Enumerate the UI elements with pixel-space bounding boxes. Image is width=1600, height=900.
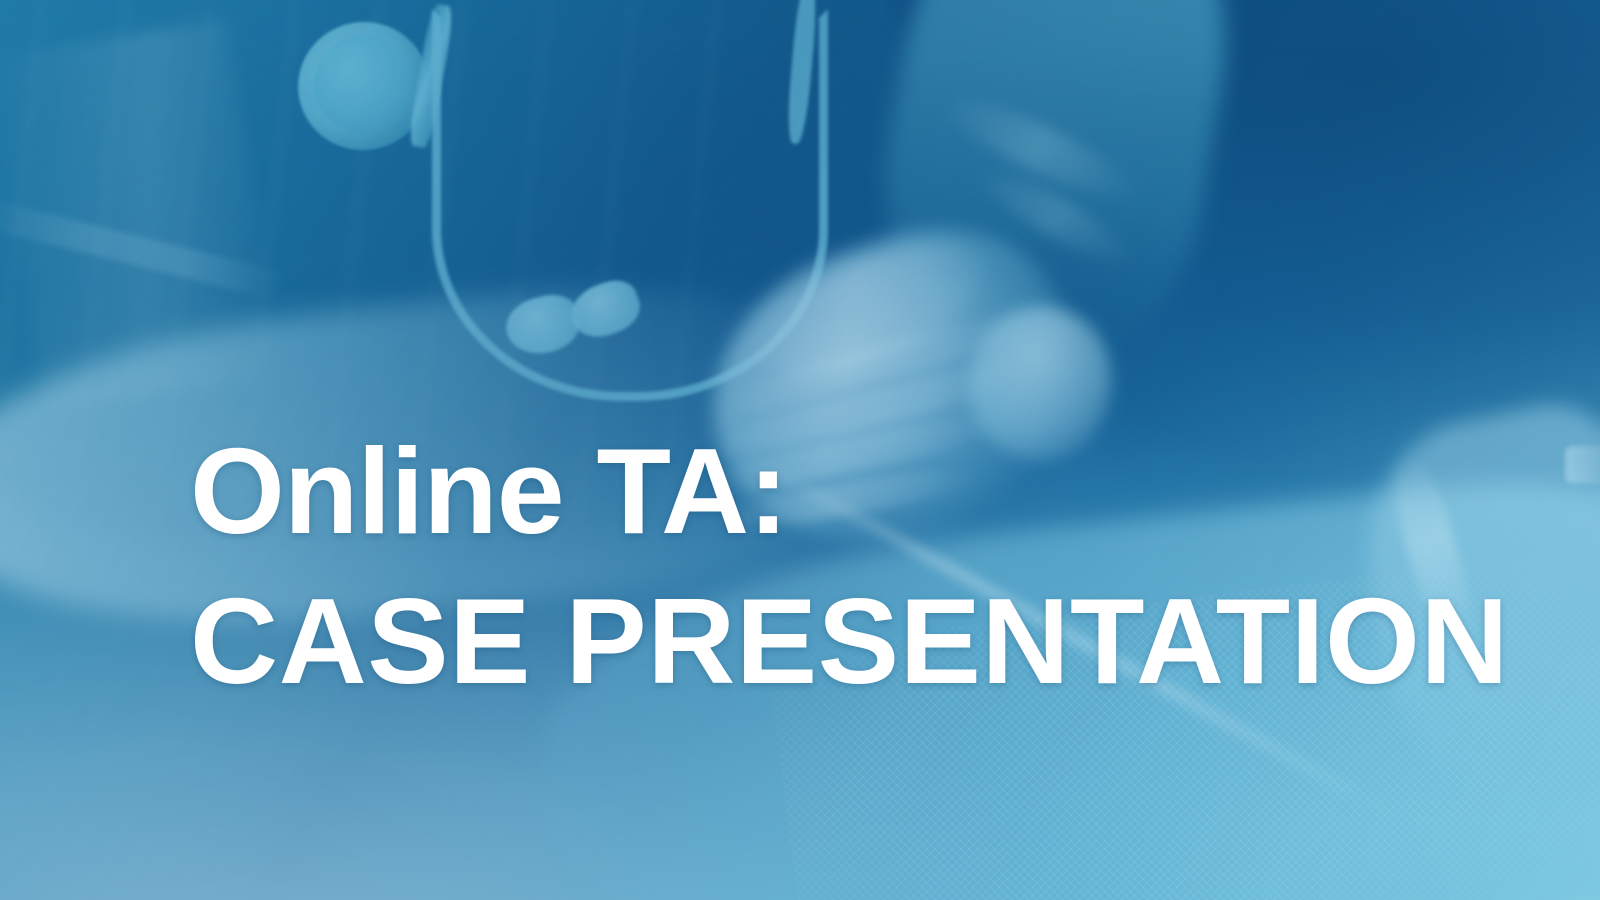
stethoscope-bell-face-icon	[304, 26, 421, 143]
stethoscope-right-arm-icon	[785, 0, 819, 145]
stethoscope-tubing-icon	[432, 9, 828, 401]
stethoscope-bell-rim-icon	[286, 9, 441, 161]
title-line-primary: Online TA:	[190, 416, 1450, 566]
right-edge-highlight	[1565, 446, 1600, 484]
title-line-secondary: CASE PRESENTATION	[190, 566, 1450, 716]
stethoscope-stem-icon	[407, 3, 456, 149]
scrub-shoulder-seam	[0, 19, 283, 412]
sleeve-cuff-fold	[937, 83, 1144, 215]
stethoscope-eartip-icon	[500, 289, 585, 361]
hand-knuckle-highlight	[742, 216, 1002, 404]
hand-finger	[721, 305, 1023, 423]
caregiver-forearm	[861, 0, 1250, 364]
stethoscope-eartip-icon	[563, 274, 647, 346]
page-title: Online TA: CASE PRESENTATION	[190, 416, 1450, 716]
presentation-title-slide: Online TA: CASE PRESENTATION	[0, 0, 1600, 900]
scrub-sleeve-hem	[0, 196, 287, 301]
sleeve-cuff-fold	[970, 157, 1141, 278]
